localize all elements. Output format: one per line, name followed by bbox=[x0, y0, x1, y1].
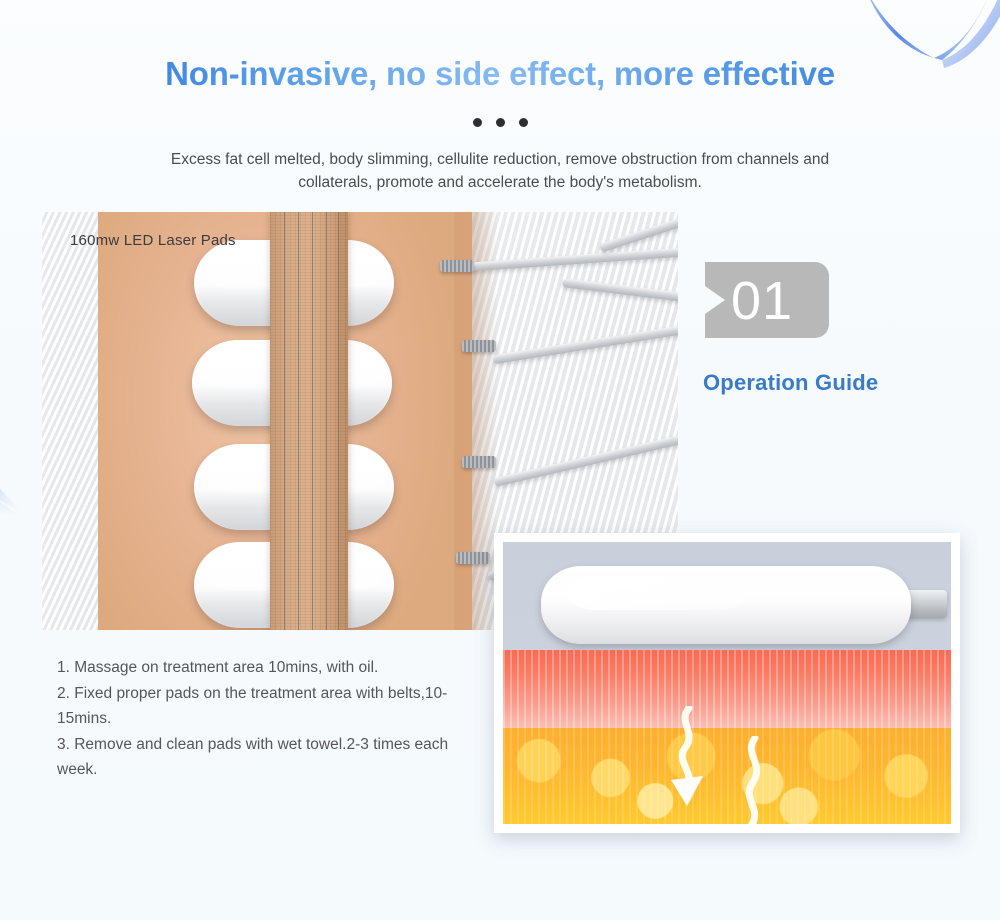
cable-connector bbox=[462, 456, 496, 468]
belt-stitch bbox=[326, 212, 327, 630]
belt-stitch bbox=[312, 212, 313, 630]
photo-caption: 160mw LED Laser Pads bbox=[70, 232, 236, 249]
separator-dot bbox=[519, 118, 528, 127]
inset-canvas bbox=[503, 542, 951, 824]
page-subtitle: Excess fat cell melted, body slimming, c… bbox=[140, 148, 860, 194]
elastic-belt bbox=[270, 212, 348, 630]
cable-connector bbox=[462, 340, 496, 352]
inset-illustration-photo bbox=[494, 533, 960, 833]
belt-stitch bbox=[298, 212, 299, 630]
section-number: 01 bbox=[731, 266, 793, 336]
cable-connector bbox=[456, 552, 490, 564]
section-title: Operation Guide bbox=[703, 370, 878, 396]
separator-dot bbox=[473, 118, 482, 127]
page-title: Non-invasive, no side effect, more effec… bbox=[0, 55, 1000, 93]
belt-stitch bbox=[338, 212, 339, 630]
towel-left bbox=[42, 212, 104, 630]
cable-connector bbox=[440, 260, 474, 272]
separator-dot bbox=[496, 118, 505, 127]
operation-steps: 1. Massage on treatment area 10mins, wit… bbox=[57, 655, 477, 783]
separator-dots bbox=[0, 118, 1000, 127]
section-number-badge: 01 bbox=[705, 262, 835, 338]
inset-led-pad bbox=[541, 566, 911, 644]
fat-cell-layer bbox=[503, 728, 951, 824]
belt-stitch bbox=[284, 212, 285, 630]
product-feature-page: Non-invasive, no side effect, more effec… bbox=[0, 0, 1000, 920]
